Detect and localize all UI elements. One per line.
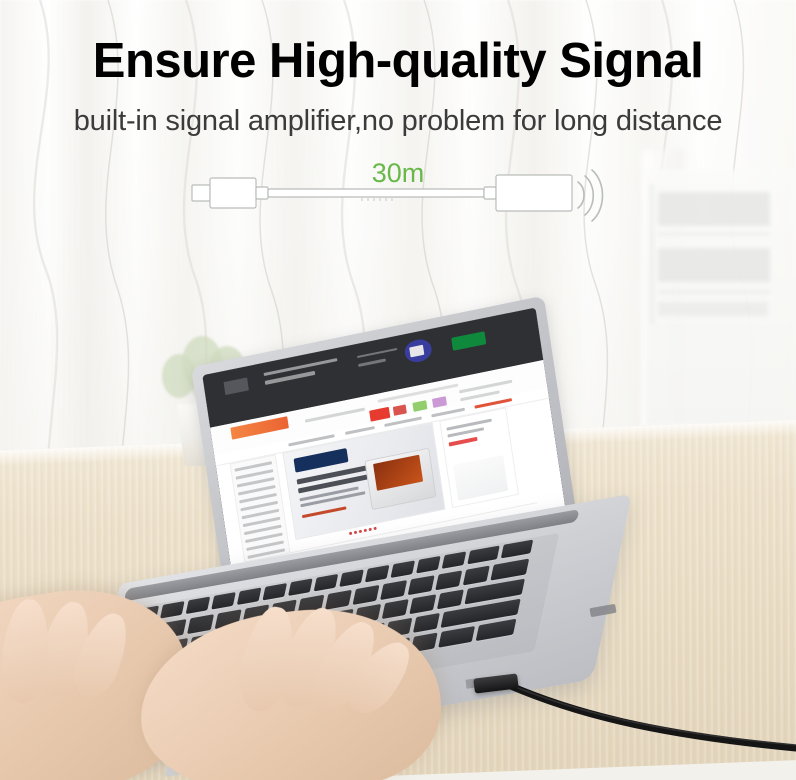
screen-side-promo (439, 408, 519, 509)
screen-sidebar (229, 455, 291, 565)
usb-strain-relief (256, 187, 268, 199)
marketing-poster: MacBook Air (0, 0, 796, 780)
device-strain-relief (484, 187, 496, 199)
cable-distance-diagram: 30m (188, 160, 608, 232)
usb-cable (440, 650, 796, 780)
distance-label: 30m (188, 160, 608, 187)
cable-markers (362, 198, 392, 201)
page-subtitle: built-in signal amplifier,no problem for… (0, 105, 796, 138)
page-title: Ensure High-quality Signal (0, 36, 796, 87)
cable-line (268, 189, 484, 197)
usb-connector-tip (192, 185, 210, 201)
